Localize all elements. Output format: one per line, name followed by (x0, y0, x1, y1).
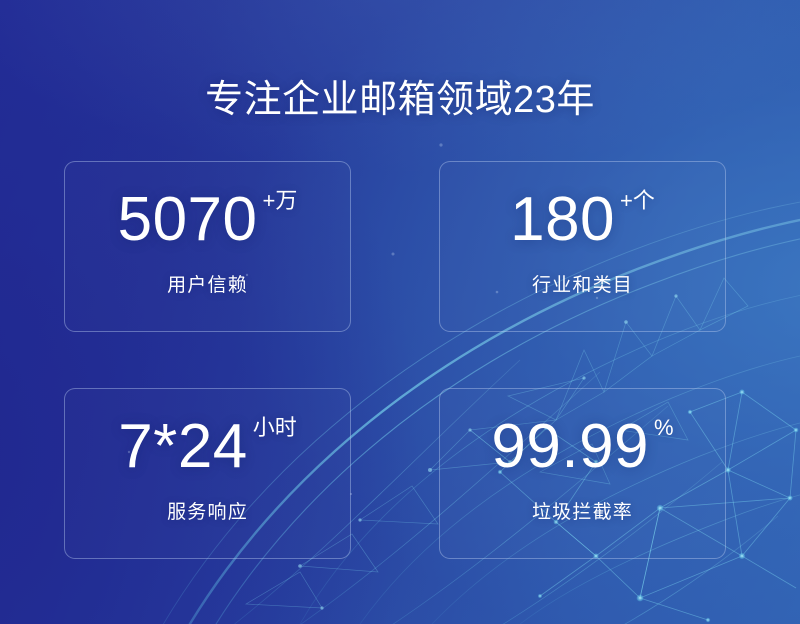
stat-value-row: 99.99 % (440, 414, 725, 480)
stat-card-spam-interception-rate[interactable]: 99.99 % 垃圾拦截率 (439, 388, 726, 559)
stat-value-row: 7*24 小时 (65, 414, 350, 480)
stat-unit: +个 (620, 189, 655, 213)
stat-label: 服务响应 (65, 501, 350, 525)
stat-unit: % (654, 416, 674, 440)
stat-card-industries-categories[interactable]: 180 +个 行业和类目 (439, 161, 726, 332)
stat-value: 7*24 (118, 414, 248, 480)
stat-label: 用户信赖 (65, 274, 350, 298)
stat-value: 5070 (118, 187, 258, 253)
stat-value: 99.99 (491, 414, 649, 480)
page-title: 专注企业邮箱领域23年 (0, 77, 800, 123)
promo-banner: 专注企业邮箱领域23年 5070 +万 用户信赖 180 +个 行业和类目 7*… (0, 0, 800, 624)
stat-value-row: 180 +个 (440, 187, 725, 253)
stat-label: 行业和类目 (440, 274, 725, 298)
stat-unit: 小时 (253, 416, 297, 440)
stat-label: 垃圾拦截率 (440, 501, 725, 525)
stat-value-row: 5070 +万 (65, 187, 350, 253)
stat-card-service-response[interactable]: 7*24 小时 服务响应 (64, 388, 351, 559)
stat-unit: +万 (263, 189, 298, 213)
stat-card-user-trust[interactable]: 5070 +万 用户信赖 (64, 161, 351, 332)
stats-grid: 5070 +万 用户信赖 180 +个 行业和类目 7*24 小时 服务响应 (64, 161, 726, 559)
stat-value: 180 (510, 187, 615, 253)
